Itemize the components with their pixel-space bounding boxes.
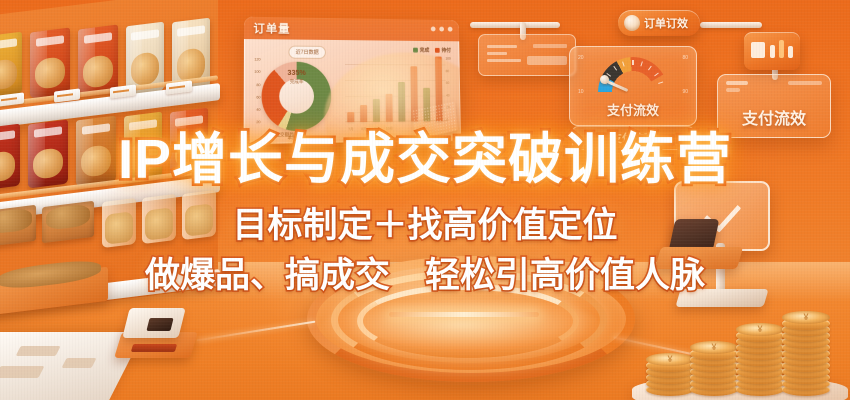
gauge-scale-min: 20	[578, 55, 584, 61]
gauge-card-label: 支付流效	[570, 100, 696, 119]
card-bar	[788, 81, 822, 85]
metric-card-small[interactable]	[478, 34, 576, 76]
connector-pipe	[470, 22, 560, 28]
date-filter-chip[interactable]: 近7日数据	[288, 46, 325, 59]
y-tick: 60	[251, 95, 260, 108]
donut-center-sub: 完成率	[262, 79, 332, 85]
register-slot	[131, 344, 177, 352]
metric-node-card[interactable]	[744, 32, 800, 70]
coin-stacks	[646, 310, 846, 400]
stat-card-label: 支付流效	[718, 105, 830, 129]
promo-banner: 订单量 近7日数据 完成 待付 120 100 80 60 40 20 335%…	[0, 0, 850, 400]
y-tick: 80	[251, 83, 260, 96]
donut-center-value: 335%	[262, 70, 331, 77]
donut-axis: 120 100 80 60 40 20	[251, 57, 261, 133]
register-screen	[146, 318, 173, 331]
dashboard-title: 订单量	[253, 20, 290, 37]
legend-label: 待付	[441, 47, 451, 54]
payment-efficiency-gauge-card[interactable]: 20 80 10 90 支付流效	[569, 46, 697, 126]
snack-pack	[30, 28, 70, 99]
gauge-ticks	[598, 57, 668, 92]
y-tick: 100	[251, 70, 260, 83]
pos-register	[118, 306, 204, 366]
pos-terminal-group	[660, 185, 810, 325]
payment-efficiency-card[interactable]: 支付流效	[717, 74, 831, 138]
y-tick: 40	[251, 108, 260, 121]
banner-subline-1: 目标制定＋找高价值定位	[0, 208, 850, 243]
y-tick: 120	[251, 57, 260, 70]
card-bar	[726, 88, 740, 92]
connector-pipe	[700, 22, 762, 28]
stage-light-strip	[389, 312, 539, 317]
order-efficiency-badge[interactable]: 订单订效	[618, 10, 700, 36]
analytics-dashboard[interactable]: 订单量 近7日数据 完成 待付 120 100 80 60 40 20 335%…	[244, 17, 461, 145]
snack-pack	[0, 32, 22, 99]
banner-headline: IP增长与成交突破训练营	[0, 132, 850, 187]
gauge-scale-high: 90	[682, 89, 688, 95]
gauge-dial	[598, 57, 668, 92]
gauge-scale-max: 80	[682, 55, 688, 61]
gauge-scale-low: 10	[578, 89, 584, 95]
banner-subline-2: 做爆品、搞成交 轻松引高价值人脉	[0, 258, 850, 293]
window-controls[interactable]	[431, 26, 453, 31]
card-bar	[726, 81, 748, 85]
stage-glow	[321, 298, 603, 356]
gauge-hub	[600, 75, 609, 84]
